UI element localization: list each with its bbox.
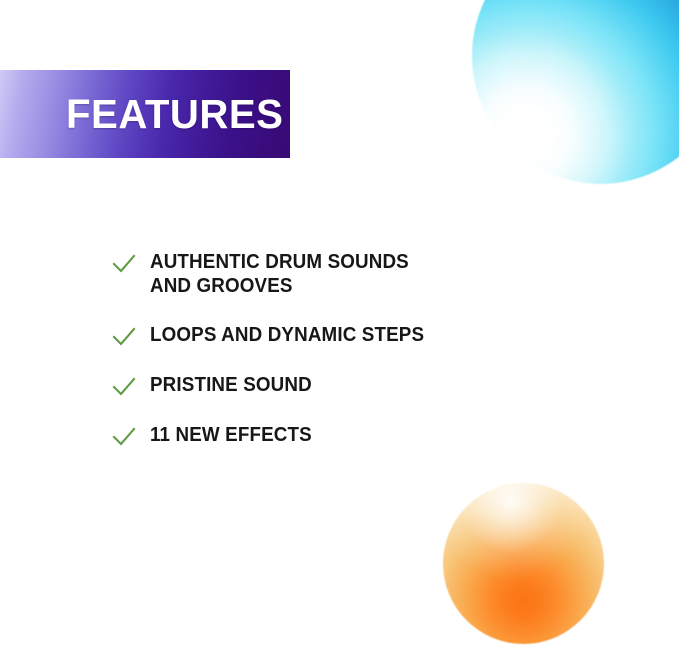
list-item: PRISTINE SOUND	[112, 373, 532, 398]
page-title: FEATURES	[66, 94, 283, 135]
list-item: 11 NEW EFFECTS	[112, 423, 532, 448]
feature-list: AUTHENTIC DRUM SOUNDS AND GROOVES LOOPS …	[112, 250, 532, 448]
check-icon	[112, 376, 136, 398]
list-item-label: LOOPS AND DYNAMIC STEPS	[150, 323, 424, 347]
check-icon	[112, 326, 136, 348]
list-item-label: 11 NEW EFFECTS	[150, 423, 312, 447]
orange-gradient-blob	[443, 483, 604, 644]
list-item-label: PRISTINE SOUND	[150, 373, 312, 397]
check-icon	[112, 426, 136, 448]
list-item: LOOPS AND DYNAMIC STEPS	[112, 323, 532, 348]
list-item: AUTHENTIC DRUM SOUNDS AND GROOVES	[112, 250, 532, 298]
check-icon	[112, 253, 136, 275]
list-item-label: AUTHENTIC DRUM SOUNDS AND GROOVES	[150, 250, 409, 298]
blue-gradient-blob	[472, 0, 679, 184]
features-banner: FEATURES	[0, 70, 290, 158]
